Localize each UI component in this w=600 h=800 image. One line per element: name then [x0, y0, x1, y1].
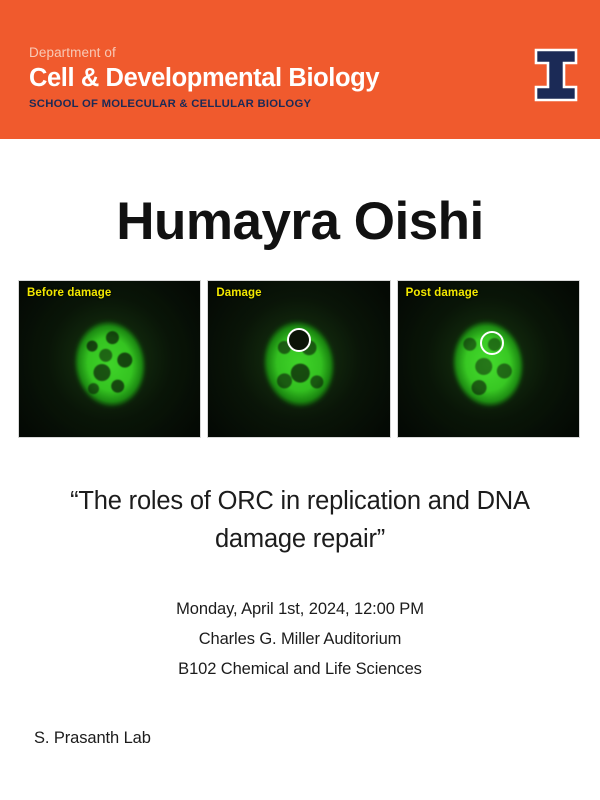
event-details: Monday, April 1st, 2024, 12:00 PM Charle… — [0, 594, 600, 684]
microscopy-panel-post-damage: Post damage — [397, 280, 580, 438]
microscopy-panel-damage: Damage — [207, 280, 390, 438]
school-name-label: SCHOOL OF MOLECULAR & CELLULAR BIOLOGY — [29, 97, 379, 112]
department-header-band: Department of Cell & Developmental Biolo… — [0, 0, 600, 139]
microscopy-figure: Before damage Damage Post damage — [18, 280, 580, 438]
host-lab-label: S. Prasanth Lab — [34, 729, 151, 748]
illinois-block-i-logo — [533, 48, 579, 102]
speaker-name-heading: Humayra Oishi — [0, 190, 600, 254]
block-i-icon — [533, 48, 579, 102]
microscopy-panel-before-damage: Before damage — [18, 280, 201, 438]
damage-roi-circle-icon — [287, 328, 311, 352]
department-prefix-label: Department of — [29, 44, 379, 61]
seminar-flyer: Department of Cell & Developmental Biolo… — [0, 0, 600, 800]
talk-title: “The roles of ORC in replication and DNA… — [30, 482, 570, 558]
recovery-roi-circle-icon — [480, 331, 504, 355]
panel-label-before-damage: Before damage — [27, 287, 111, 299]
event-room: B102 Chemical and Life Sciences — [0, 654, 600, 684]
department-header-text: Department of Cell & Developmental Biolo… — [29, 44, 379, 112]
panel-label-post-damage: Post damage — [406, 287, 479, 299]
panel-label-damage: Damage — [216, 287, 261, 299]
department-name-title: Cell & Developmental Biology — [29, 62, 379, 94]
event-datetime: Monday, April 1st, 2024, 12:00 PM — [0, 594, 600, 624]
event-venue: Charles G. Miller Auditorium — [0, 624, 600, 654]
